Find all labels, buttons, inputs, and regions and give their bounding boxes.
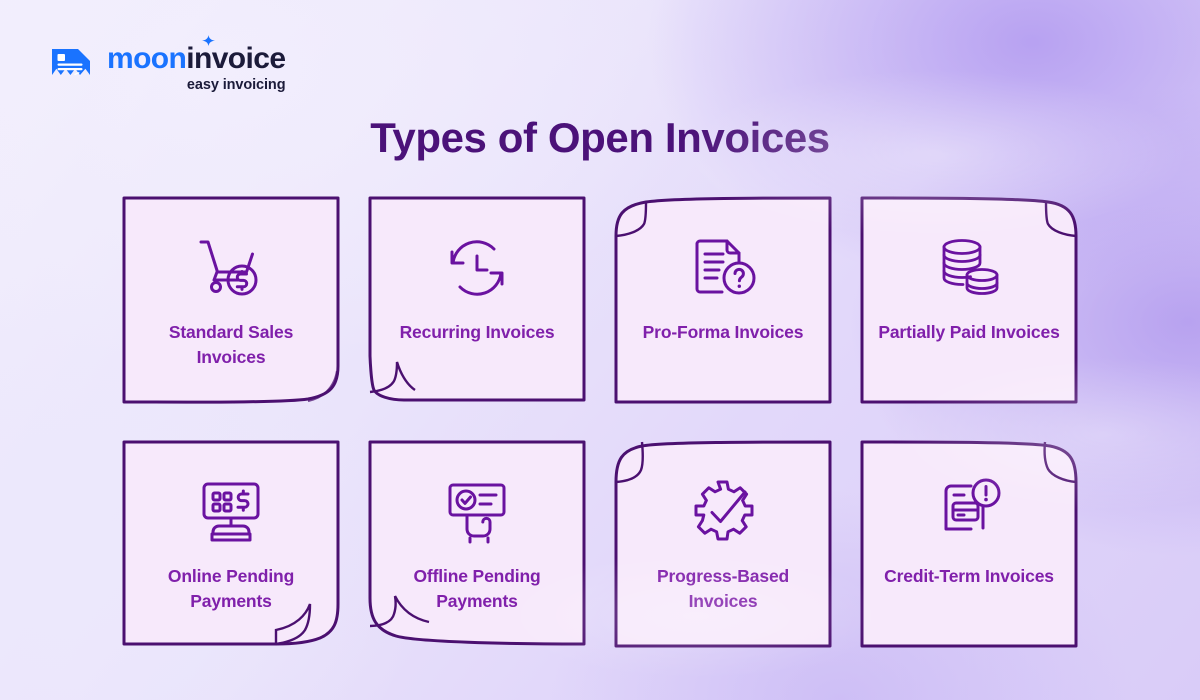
card-label: Credit-Term Invoices [872,564,1066,589]
card-label: Offline Pending Payments [380,564,574,614]
cards-row-1: Standard Sales Invoices [0,196,1200,404]
brand-logo: mooninvoice easy invoicing [48,44,285,93]
shopping-cart-dollar-icon [193,230,269,306]
credit-card-alert-icon [931,474,1007,550]
brand-name-part1: moon [107,42,186,75]
card-partially-paid-invoices[interactable]: Partially Paid Invoices [860,196,1078,404]
monitor-dollar-icon [193,474,269,550]
infographic-canvas: mooninvoice easy invoicing Types of Open… [0,0,1200,700]
screen-check-hand-icon [439,474,515,550]
card-label: Online Pending Payments [134,564,328,614]
card-label: Recurring Invoices [380,320,574,345]
document-question-icon [685,230,761,306]
coin-stacks-icon [931,230,1007,306]
card-recurring-invoices[interactable]: Recurring Invoices [368,196,586,404]
card-credit-term-invoices[interactable]: Credit-Term Invoices [860,440,1078,648]
recurring-clock-arrows-icon [439,230,515,306]
card-pro-forma-invoices[interactable]: Pro-Forma Invoices [614,196,832,404]
sparkle-icon [202,35,215,48]
page-title: Types of Open Invoices [0,114,1200,162]
card-label: Standard Sales Invoices [134,320,328,370]
card-standard-sales-invoices[interactable]: Standard Sales Invoices [122,196,340,404]
brand-name: mooninvoice [107,44,285,74]
cards-grid: Standard Sales Invoices [0,196,1200,648]
card-online-pending-payments[interactable]: Online Pending Payments [122,440,340,648]
cards-row-2: Online Pending Payments [0,440,1200,648]
gear-check-icon [685,474,761,550]
invoice-receipt-icon [48,44,96,92]
card-offline-pending-payments[interactable]: Offline Pending Payments [368,440,586,648]
brand-tagline: easy invoicing [107,78,285,93]
brand-wordmark: mooninvoice easy invoicing [107,44,285,93]
card-label: Progress-Based Invoices [626,564,820,614]
card-label: Pro-Forma Invoices [626,320,820,345]
card-label: Partially Paid Invoices [872,320,1066,345]
card-progress-based-invoices[interactable]: Progress-Based Invoices [614,440,832,648]
